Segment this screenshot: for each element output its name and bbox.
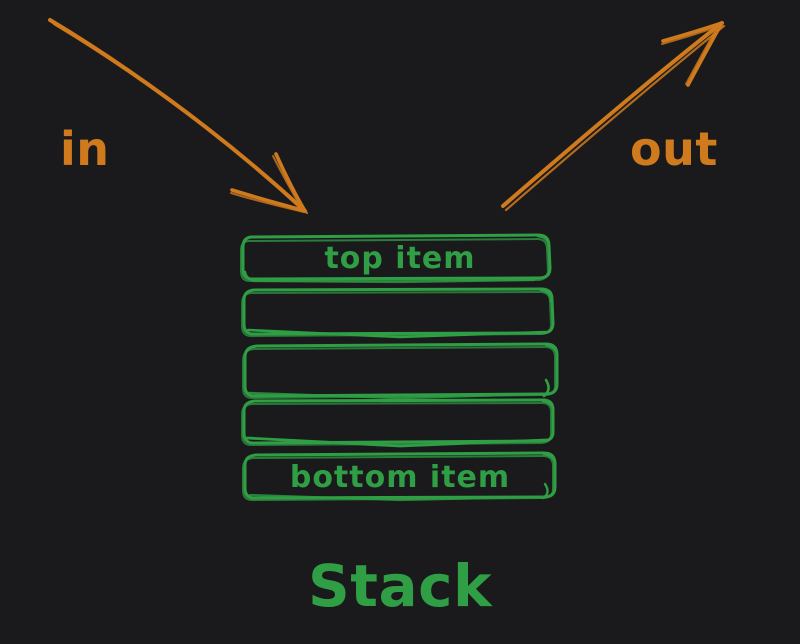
stack-box-4[interactable] <box>242 400 553 446</box>
in-arrow-icon <box>50 20 307 213</box>
stack-item-top-label: top item <box>0 241 800 276</box>
out-label: out <box>630 122 718 176</box>
sketch-layer <box>0 0 800 644</box>
out-arrow-icon <box>503 23 724 210</box>
in-label: in <box>60 122 110 176</box>
diagram-title: Stack <box>0 552 800 620</box>
stack-box-3[interactable] <box>243 344 557 398</box>
stack-box-2[interactable] <box>242 289 553 337</box>
stack-item-bottom-label: bottom item <box>0 460 800 495</box>
stack-diagram-canvas: in out top item bottom item Stack <box>0 0 800 644</box>
